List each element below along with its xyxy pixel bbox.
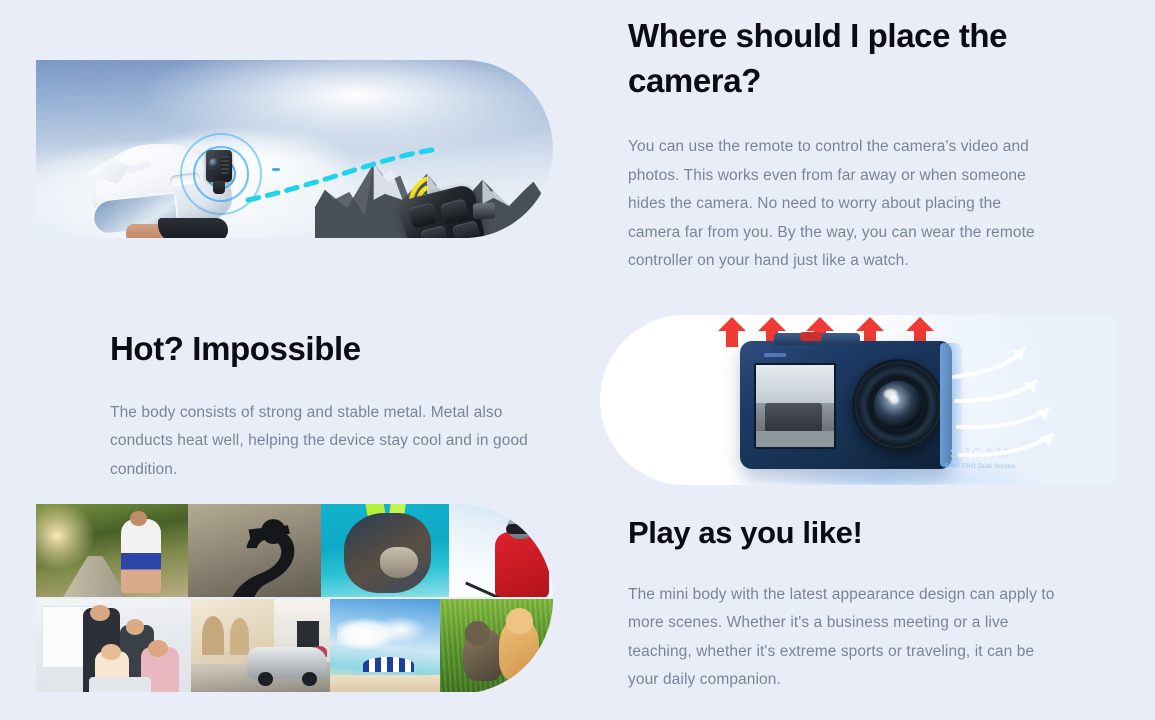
camera-lens: [852, 359, 944, 451]
camera-mount: [213, 181, 225, 194]
beach-clouds: [337, 612, 427, 649]
heat-section-body: The body consists of strong and stable m…: [110, 399, 530, 485]
placement-section-title: Where should I place the camera?: [628, 14, 1048, 103]
helmet-remote-image: [36, 60, 553, 238]
shutter-button: [800, 332, 822, 341]
airflow-arrows-group: [952, 343, 1112, 475]
beach-umbrella: [363, 657, 414, 672]
forest-path: [45, 556, 127, 597]
play-section-title: Play as you like!: [628, 512, 1098, 554]
collage-tile-diving: [321, 504, 449, 597]
play-section: Play as you like! The mini body with the…: [628, 512, 1098, 695]
collage-row-bottom: [36, 599, 553, 692]
lifestyle-collage: [36, 504, 553, 694]
suv-wheel-front: [258, 672, 273, 687]
tabby-kitten-head: [465, 621, 490, 645]
camera-front-screen: [754, 363, 836, 449]
remote-strap-lug: [473, 203, 496, 220]
ginger-kitten-head: [506, 608, 533, 634]
beach-sand: [330, 675, 440, 692]
placement-section-body: You can use the remote to control the ca…: [628, 133, 1040, 276]
collage-tile-skiing: [449, 504, 553, 597]
heat-section-title: Hot? Impossible: [110, 327, 540, 372]
heat-section: Hot? Impossible The body consists of str…: [110, 327, 540, 484]
camera-lens-icon: [208, 157, 220, 169]
helmet-mounted-camera: [204, 150, 234, 196]
camera-microphone: [764, 353, 786, 357]
collage-tile-pets: [440, 599, 553, 692]
lens-glass: [874, 381, 922, 429]
collage-tile-running: [36, 504, 188, 597]
laptop: [89, 677, 151, 692]
collage-tile-business-meeting: [36, 599, 191, 692]
lens-highlight: [884, 389, 897, 399]
collage-tile-driving: [191, 599, 330, 692]
camera-heat-image: SJCAM SJ10 PRO Dual Screen: [600, 315, 1117, 485]
cyclist-silhouette-icon: [207, 517, 311, 595]
collage-tile-beach: [330, 599, 440, 692]
person-head-4: [148, 640, 168, 657]
play-section-body: The mini body with the latest appearance…: [628, 581, 1058, 695]
suv-wheel-rear: [302, 672, 317, 687]
helmet-chin-guard: [158, 218, 228, 238]
runner-body: [121, 519, 161, 593]
camera-side-grille: [221, 156, 229, 174]
building-arch-2: [230, 618, 249, 655]
screen-vehicle: [765, 403, 821, 433]
product-feature-page: Hot? Impossible The body consists of str…: [0, 0, 1155, 720]
building-arch-1: [202, 616, 224, 655]
screen-sky: [756, 365, 834, 403]
collage-tile-cycling: [188, 504, 321, 597]
action-camera: SJCAM SJ10 PRO Dual Screen: [740, 341, 952, 469]
placement-section: Where should I place the camera? You can…: [628, 14, 1098, 276]
skier-goggles: [506, 524, 534, 533]
collage-row-top: [36, 504, 553, 597]
skier-jacket: [495, 532, 549, 597]
screen-ground: [756, 431, 834, 447]
